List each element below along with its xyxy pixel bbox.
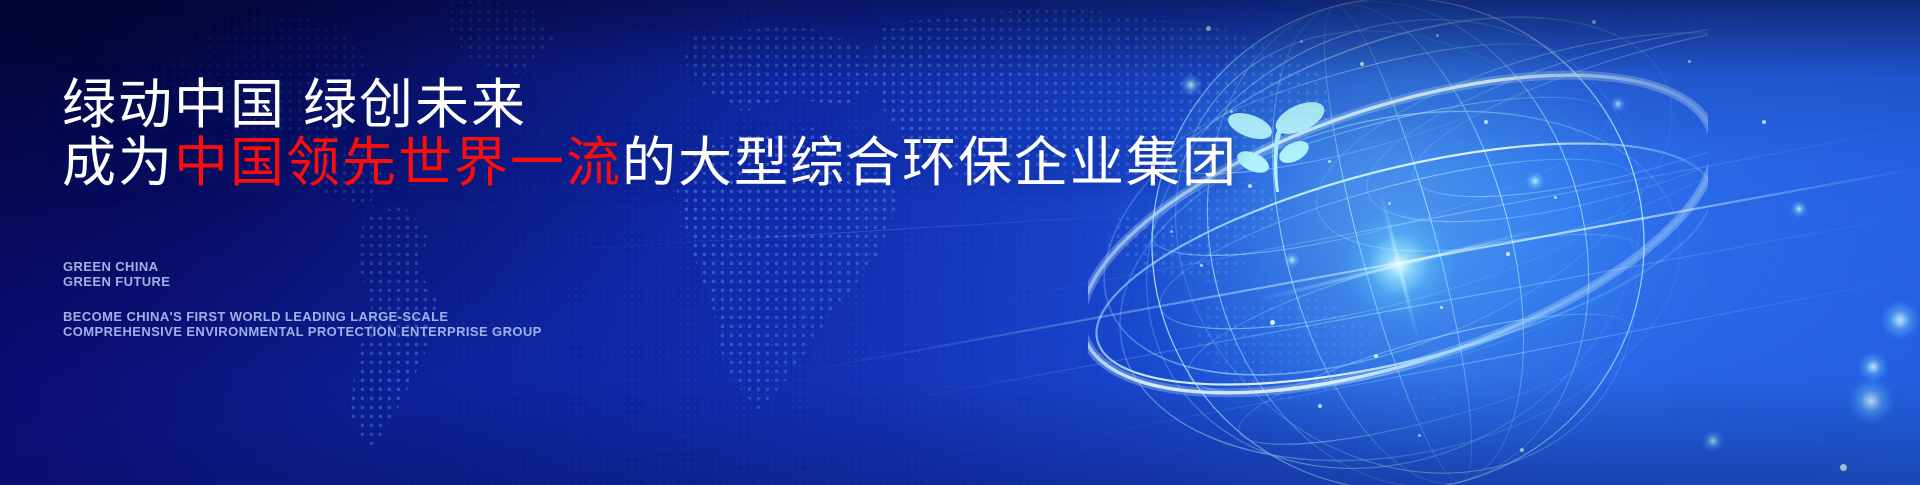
hero-banner: 绿动中国 绿创未来 成为中国领先世界一流的大型综合环保企业集团 GREEN CH…	[0, 0, 1920, 485]
headline-line-1: 绿动中国 绿创未来	[62, 73, 527, 137]
core-flare-icon	[1334, 200, 1464, 330]
description-english-line-2: COMPREHENSIVE ENVIRONMENTAL PROTECTION E…	[63, 324, 542, 339]
headline-prefix: 成为	[62, 133, 174, 193]
slogan-english-line-2: GREEN FUTURE	[63, 274, 170, 289]
description-english-line-1: BECOME CHINA'S FIRST WORLD LEADING LARGE…	[63, 309, 542, 324]
banner-copy: 绿动中国 绿创未来 成为中国领先世界一流的大型综合环保企业集团 GREEN CH…	[62, 0, 1122, 485]
headline-accent: 中国领先世界一流	[174, 133, 622, 193]
headline-suffix: 的大型综合环保企业集团	[622, 133, 1238, 193]
slogan-english: GREEN CHINA GREEN FUTURE	[63, 259, 170, 289]
description-english: BECOME CHINA'S FIRST WORLD LEADING LARGE…	[63, 309, 542, 339]
slogan-english-line-1: GREEN CHINA	[63, 259, 170, 274]
headline-line-2: 成为中国领先世界一流的大型综合环保企业集团	[62, 131, 1238, 195]
globe-graphic	[1088, 0, 1708, 485]
